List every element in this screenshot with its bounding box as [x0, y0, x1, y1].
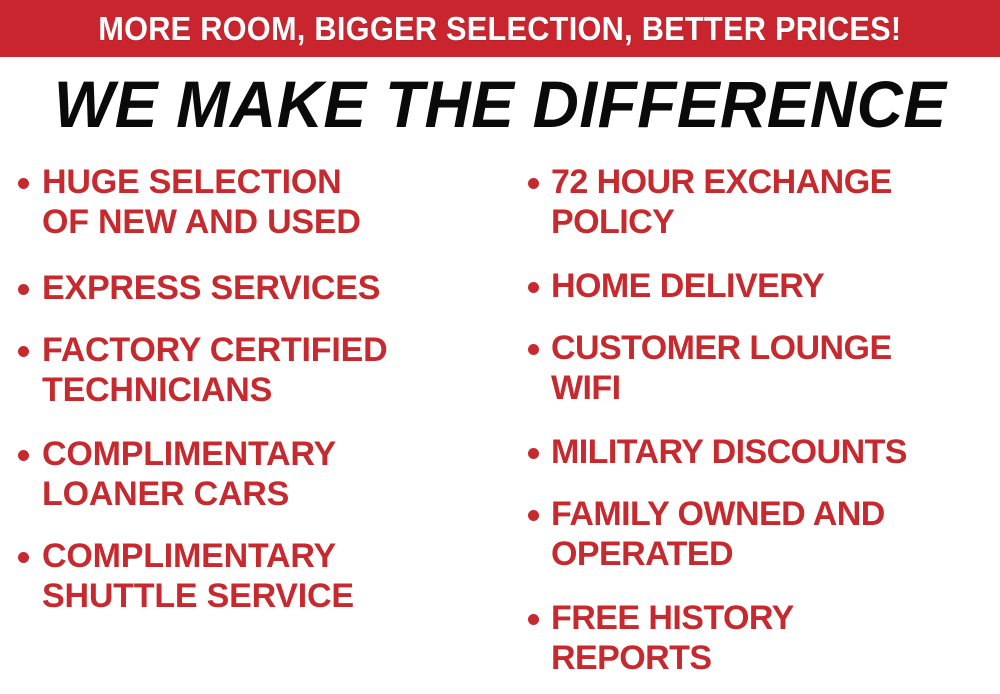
list-item-line1: FACTORY CERTIFIED: [42, 331, 387, 369]
list-item-line1: FAMILY OWNED AND: [551, 495, 885, 533]
list-item-label: HOME DELIVERY: [551, 266, 824, 306]
list-item-label: EXPRESS SERVICES: [42, 268, 380, 308]
bullet-dot-icon: [528, 178, 539, 189]
list-item-label: HUGE SELECTIONOF NEW AND USED: [42, 162, 361, 242]
list-item: EXPRESS SERVICES: [18, 268, 500, 308]
list-item-line1: COMPLIMENTARY: [42, 435, 336, 473]
list-item-line1: FREE HISTORY: [551, 599, 794, 637]
list-item: FACTORY CERTIFIEDTECHNICIANS: [18, 330, 500, 410]
list-item-line2: SHUTTLE SERVICE: [42, 577, 354, 615]
bullet-dot-icon: [528, 510, 539, 521]
bullet-dot-icon: [528, 344, 539, 355]
list-item-line1: HUGE SELECTION: [42, 163, 341, 201]
list-item: MILITARY DISCOUNTS: [528, 432, 1000, 472]
list-item-line1: 72 HOUR EXCHANGE: [551, 163, 892, 201]
list-item-label: FREE HISTORYREPORTS: [551, 598, 794, 678]
list-item-line1: HOME DELIVERY: [551, 267, 824, 305]
bullet-dot-icon: [18, 284, 29, 295]
poster-root: MORE ROOM, BIGGER SELECTION, BETTER PRIC…: [0, 0, 1000, 694]
list-item: 72 HOUR EXCHANGEPOLICY: [528, 162, 1000, 242]
bullet-dot-icon: [18, 178, 29, 189]
list-item-label: COMPLIMENTARYLOANER CARS: [42, 434, 336, 514]
list-item-line2: WIFI: [551, 369, 621, 407]
list-item-line2: OPERATED: [551, 535, 733, 573]
benefits-columns: HUGE SELECTIONOF NEW AND USED EXPRESS SE…: [0, 152, 1000, 694]
list-item: FREE HISTORYREPORTS: [528, 598, 1000, 678]
bullet-dot-icon: [18, 346, 29, 357]
bullet-dot-icon: [528, 282, 539, 293]
list-item-label: COMPLIMENTARYSHUTTLE SERVICE: [42, 536, 354, 616]
list-item: COMPLIMENTARYSHUTTLE SERVICE: [18, 536, 500, 616]
list-item-line1: COMPLIMENTARY: [42, 537, 336, 575]
list-item-line1: EXPRESS SERVICES: [42, 269, 380, 307]
bullet-dot-icon: [18, 552, 29, 563]
list-item-line1: CUSTOMER LOUNGE: [551, 329, 892, 367]
benefits-column-right: 72 HOUR EXCHANGEPOLICY HOME DELIVERY CUS…: [500, 152, 1000, 694]
list-item-line2: POLICY: [551, 203, 674, 241]
headline-container: WE MAKE THE DIFFERENCE: [0, 60, 1000, 148]
top-banner: MORE ROOM, BIGGER SELECTION, BETTER PRIC…: [0, 0, 1000, 57]
list-item: HOME DELIVERY: [528, 266, 1000, 306]
list-item-label: MILITARY DISCOUNTS: [551, 432, 907, 472]
list-item-label: FACTORY CERTIFIEDTECHNICIANS: [42, 330, 387, 410]
bullet-dot-icon: [528, 614, 539, 625]
list-item-label: 72 HOUR EXCHANGEPOLICY: [551, 162, 892, 242]
list-item: COMPLIMENTARYLOANER CARS: [18, 434, 500, 514]
bullet-dot-icon: [528, 448, 539, 459]
list-item-line1: MILITARY DISCOUNTS: [551, 433, 907, 471]
list-item-line2: LOANER CARS: [42, 475, 289, 513]
bullet-dot-icon: [18, 450, 29, 461]
list-item: FAMILY OWNED ANDOPERATED: [528, 494, 1000, 574]
benefits-column-left: HUGE SELECTIONOF NEW AND USED EXPRESS SE…: [0, 152, 500, 694]
banner-headline-text: MORE ROOM, BIGGER SELECTION, BETTER PRIC…: [98, 12, 901, 45]
list-item: CUSTOMER LOUNGEWIFI: [528, 328, 1000, 408]
page-title: WE MAKE THE DIFFERENCE: [54, 71, 947, 137]
list-item: HUGE SELECTIONOF NEW AND USED: [18, 162, 500, 242]
list-item-line2: TECHNICIANS: [42, 371, 272, 409]
list-item-label: CUSTOMER LOUNGEWIFI: [551, 328, 892, 408]
list-item-label: FAMILY OWNED ANDOPERATED: [551, 494, 885, 574]
list-item-line2: OF NEW AND USED: [42, 203, 361, 241]
list-item-line2: REPORTS: [551, 639, 712, 677]
